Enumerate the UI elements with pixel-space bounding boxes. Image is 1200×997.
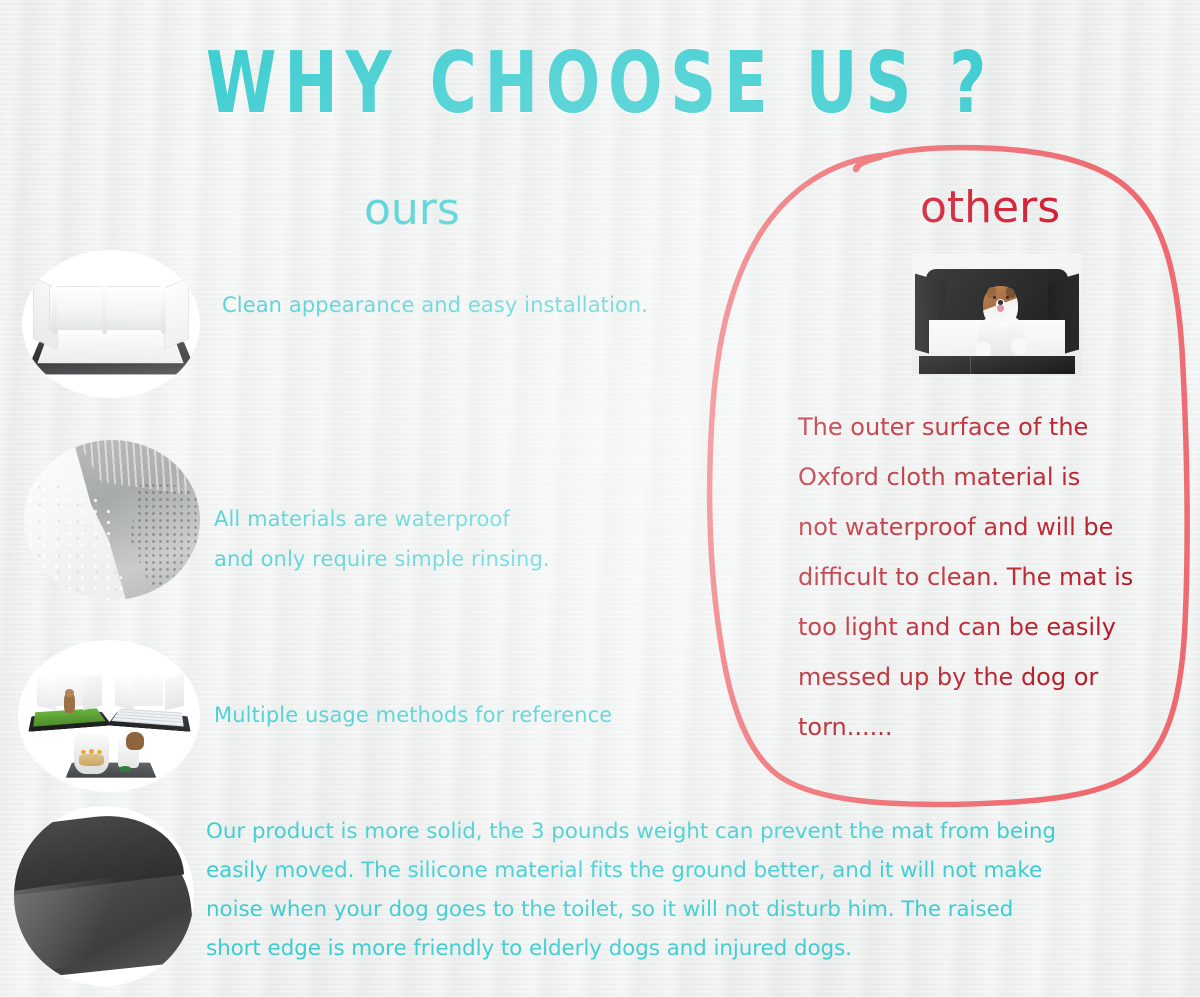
dog-paw-right: [1011, 338, 1027, 355]
others-line-7: torn......: [798, 702, 1194, 752]
bottom-line-2: easily moved. The silicone material fits…: [206, 851, 1178, 890]
dog-figure: [970, 283, 1031, 359]
pen-post-right: [161, 284, 166, 334]
dog-on-oxford-cloth-tray-photo: [912, 254, 1082, 376]
others-line-6: messed up by the dog or: [798, 652, 1194, 702]
pen-floor: [38, 334, 185, 363]
column-heading-ours: ours: [364, 184, 460, 235]
pen-wall-right: [164, 277, 189, 350]
feature-text-3: Multiple usage methods for reference: [214, 698, 612, 733]
feature-text-2-line1: All materials are waterproof: [214, 502, 510, 537]
dog-nose: [998, 300, 1003, 304]
feature-text-2-line2: and only require simple rinsing.: [214, 542, 550, 577]
column-heading-others: others: [920, 182, 1060, 233]
page-title: WHY CHOOSE US ?: [18, 34, 1182, 133]
scene-grid-tray: [109, 676, 189, 737]
tray-front-lip: [919, 356, 1075, 373]
dog-eye-left: [993, 296, 996, 299]
scene-grass-pad: [29, 676, 109, 737]
pen-post-mid: [102, 284, 107, 334]
others-line-1: The outer surface of the: [798, 402, 1194, 452]
others-line-4: difficult to clean. The mat is: [798, 552, 1194, 602]
silicone-mat-corner-photo: [14, 806, 194, 986]
others-description: The outer surface of the Oxford cloth ma…: [798, 402, 1194, 752]
scene-litter-box: [69, 731, 153, 786]
bottom-line-3: noise when your dog goes to the toilet, …: [206, 890, 1178, 929]
others-line-5: too light and can be easily: [798, 602, 1194, 652]
dog-eye-right: [1006, 296, 1009, 299]
feature-text-1: Clean appearance and easy installation.: [222, 288, 648, 323]
poster-canvas: WHY CHOOSE US ? ours others Clean appear…: [0, 0, 1200, 997]
bottom-line-1: Our product is more solid, the 3 pounds …: [206, 812, 1178, 851]
bottom-line-4: short edge is more friendly to elderly d…: [206, 929, 1178, 968]
bottom-paragraph: Our product is more solid, the 3 pounds …: [206, 812, 1178, 968]
pen-post-left: [52, 284, 57, 334]
others-line-3: not waterproof and will be: [798, 502, 1194, 552]
multiple-usage-scenes-photo: [18, 640, 200, 792]
pen-wall-back: [49, 286, 174, 330]
white-pen-tray-photo: [22, 250, 200, 398]
dog-head: [983, 286, 1017, 327]
dog-tongue: [997, 305, 1004, 312]
others-line-2: Oxford cloth material is: [798, 452, 1194, 502]
dog-paw-left: [976, 342, 991, 357]
water-rinsing-mesh-photo: [24, 440, 200, 600]
